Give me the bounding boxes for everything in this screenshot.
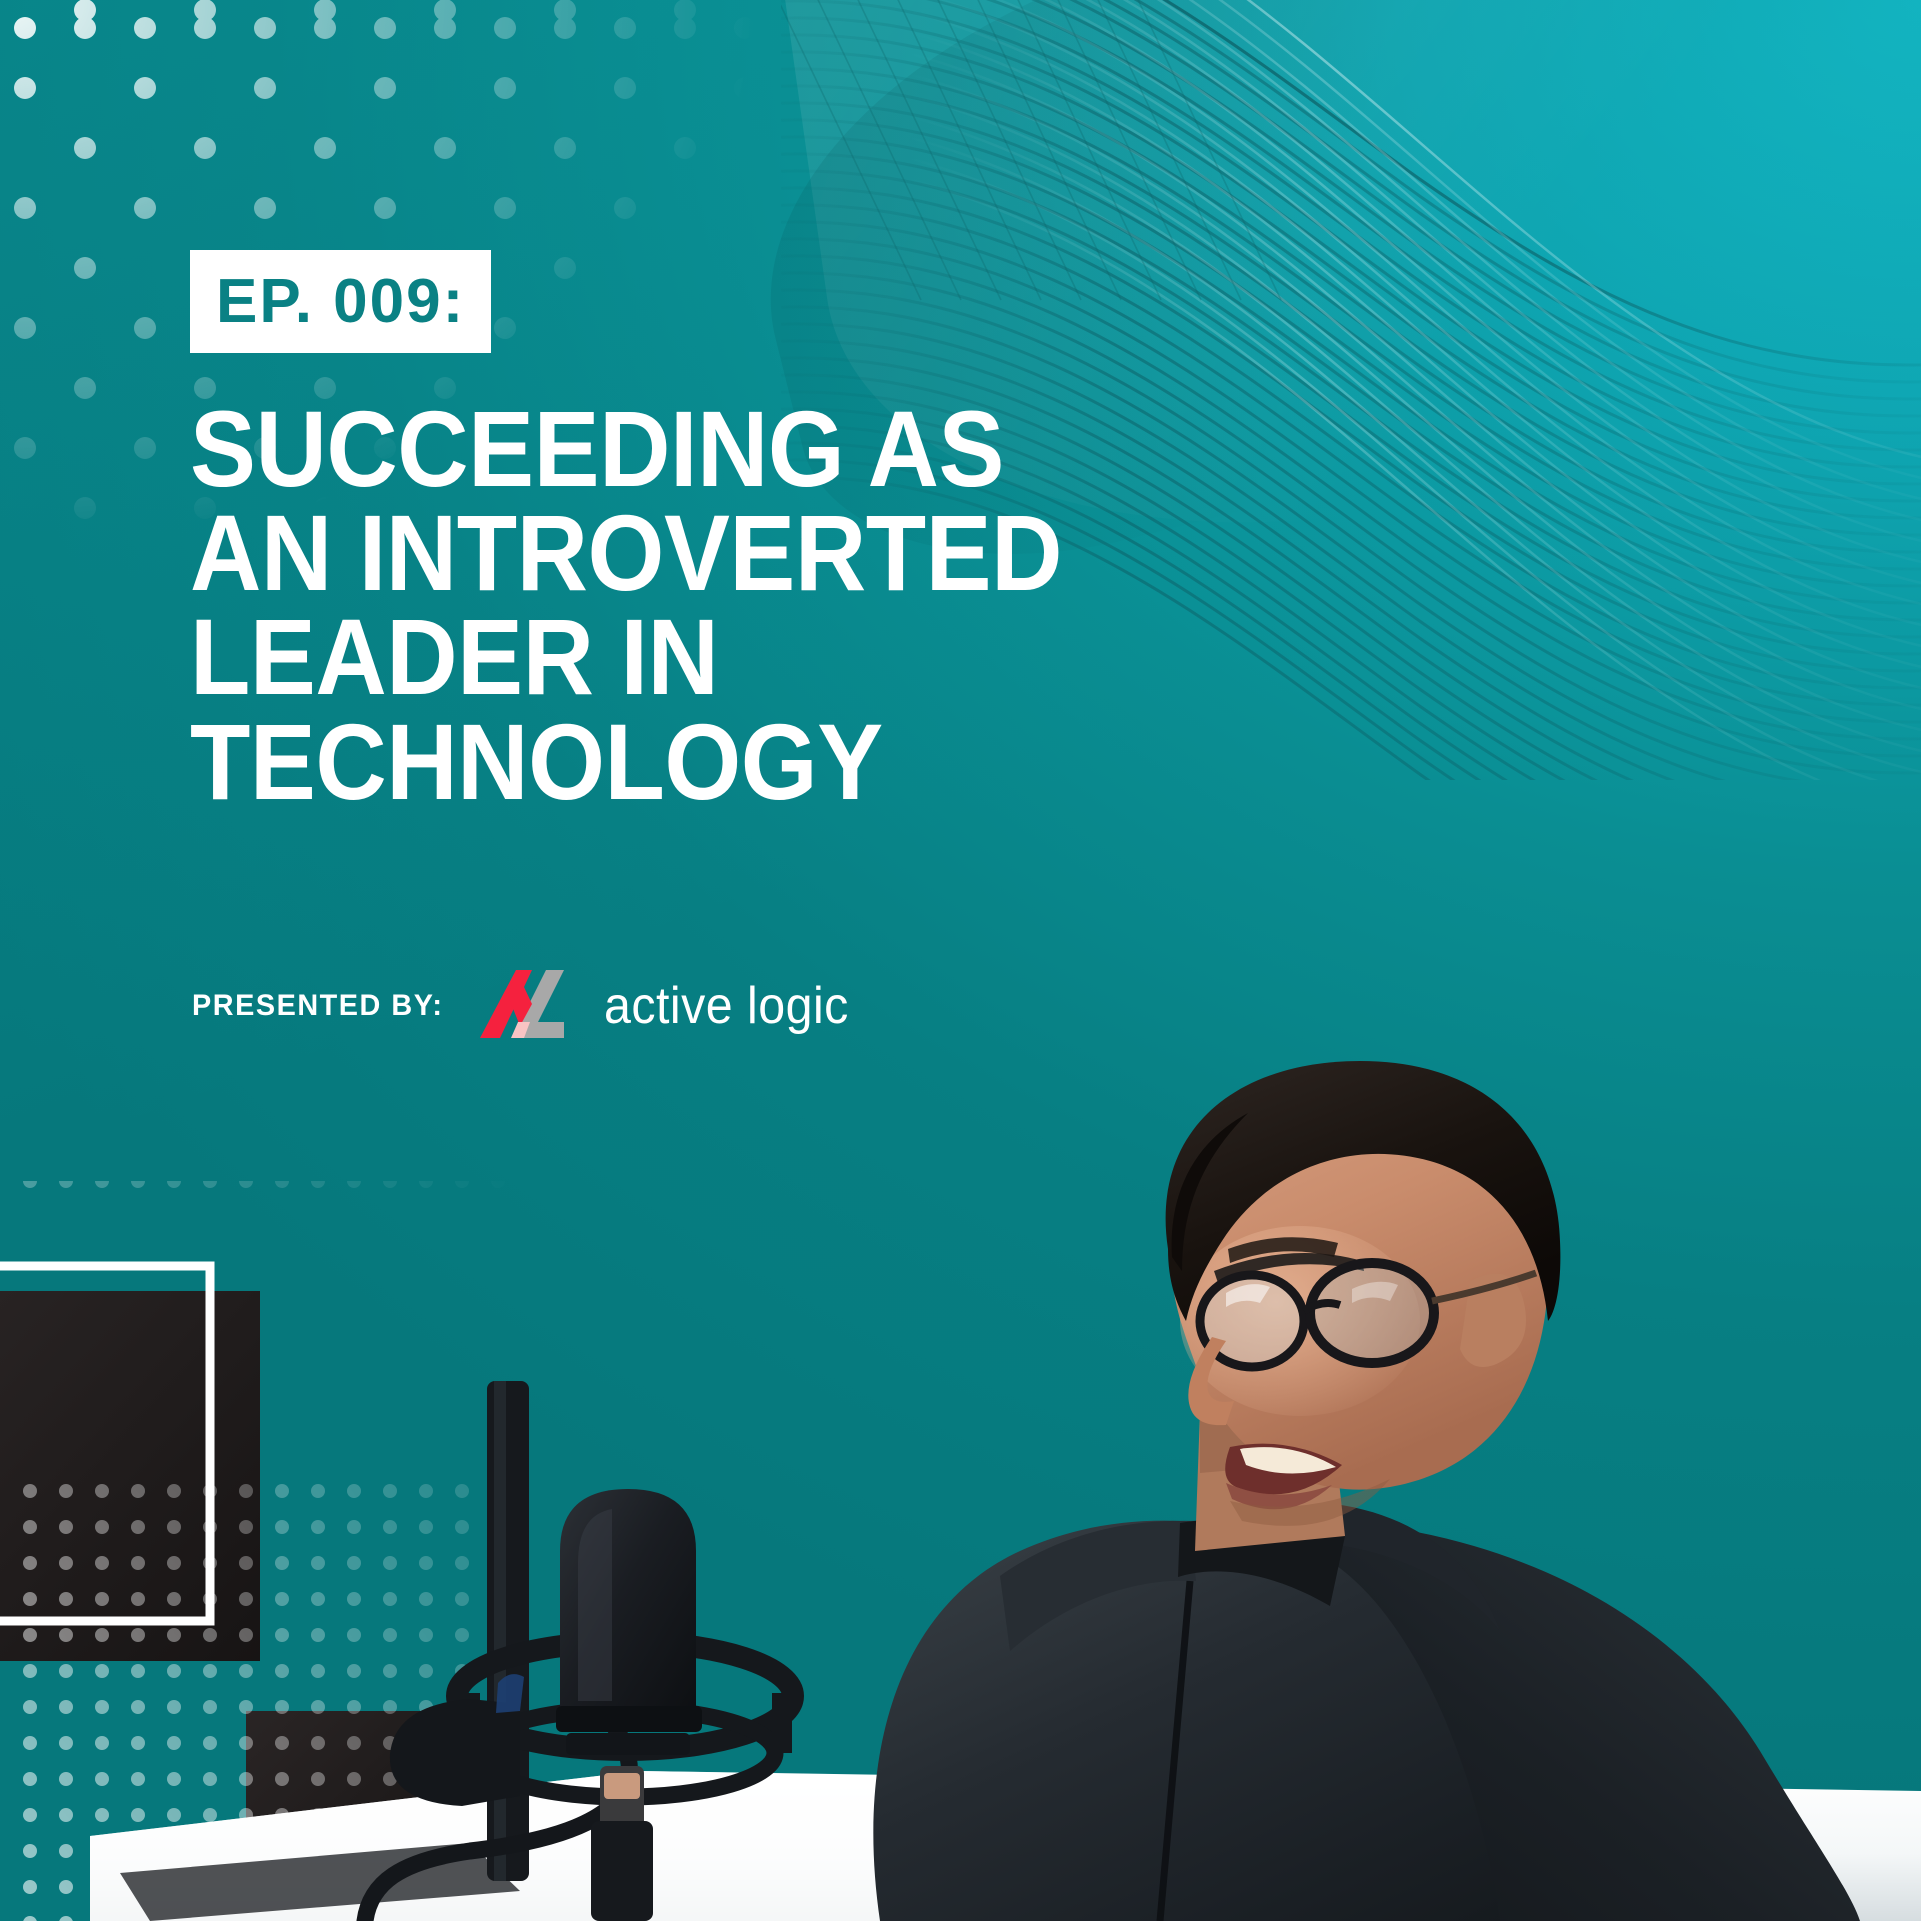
active-logic-logo-icon xyxy=(478,968,586,1044)
title-block: EP. 009: SUCCEEDING AS AN INTROVERTED LE… xyxy=(190,250,1370,814)
episode-title: SUCCEEDING AS AN INTROVERTED LEADER IN T… xyxy=(190,397,1270,814)
brand-name: active logic xyxy=(604,976,849,1036)
presented-by-row: PRESENTED BY: active logic xyxy=(192,968,867,1044)
mic-boom-arm xyxy=(487,1381,529,1881)
mic-clamp xyxy=(390,1699,520,1806)
podcast-cover-art: EP. 009: SUCCEEDING AS AN INTROVERTED LE… xyxy=(0,0,1921,1921)
person-silhouette xyxy=(873,1061,1860,1921)
mic-stand-post xyxy=(591,1821,653,1921)
brand-logo-lockup: active logic xyxy=(478,968,867,1044)
presented-by-label: PRESENTED BY: xyxy=(192,989,443,1023)
episode-badge: EP. 009: xyxy=(190,250,491,353)
